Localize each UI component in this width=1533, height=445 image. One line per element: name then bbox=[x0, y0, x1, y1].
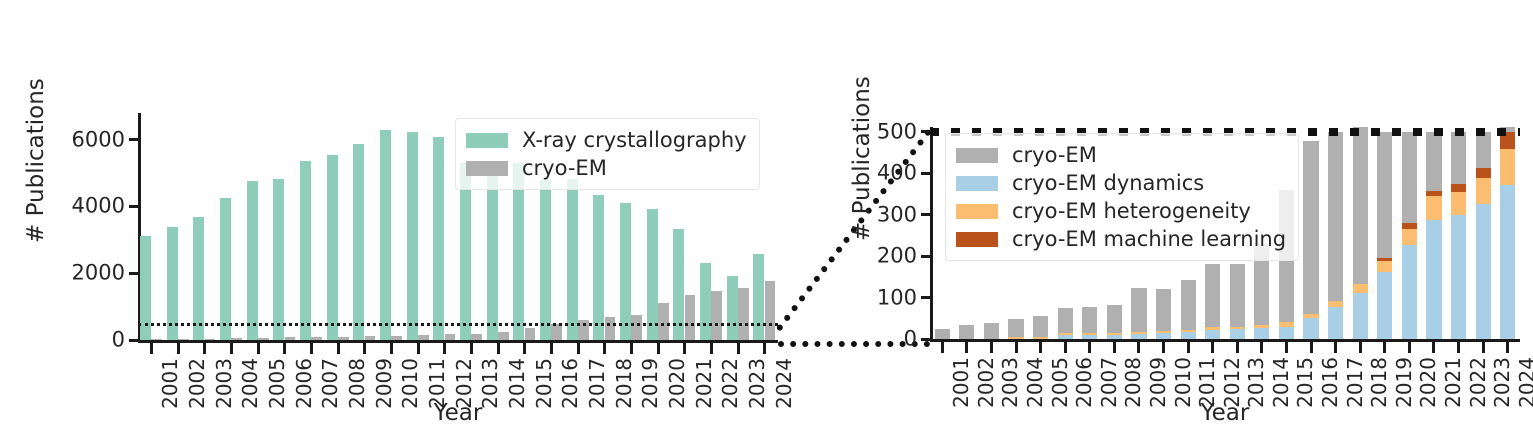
segment-cryo-em bbox=[1131, 288, 1146, 332]
segment-cryo-em-heterogeneity bbox=[1082, 333, 1097, 335]
x-tick bbox=[1457, 342, 1460, 353]
bar-x-ray-crystallography-2020 bbox=[647, 209, 658, 340]
legend-item-heterogeneity: cryo-EM heterogeneity bbox=[956, 197, 1286, 225]
bar-cryo-em-2010 bbox=[391, 336, 402, 340]
bar-cryo-em-2011 bbox=[418, 335, 429, 340]
x-tick bbox=[1310, 342, 1313, 353]
legend-swatch-xray bbox=[466, 133, 508, 148]
x-tick bbox=[1211, 342, 1214, 353]
bar-cryo-em-2009 bbox=[365, 336, 376, 340]
segment-cryo-em-dynamics bbox=[1058, 335, 1073, 339]
y-tick-label: 500 bbox=[877, 121, 917, 142]
legend-item-cryoem: cryo-EM bbox=[466, 154, 747, 182]
stacked-bar-2019 bbox=[1377, 127, 1392, 339]
segment-cryo-em bbox=[1328, 132, 1343, 301]
segment-cryo-em bbox=[1476, 132, 1491, 168]
y-tick-label: 300 bbox=[877, 204, 917, 225]
y-tick bbox=[129, 138, 138, 141]
x-tick bbox=[390, 343, 393, 354]
segment-cryo-em-heterogeneity bbox=[1008, 337, 1023, 339]
x-tick bbox=[990, 342, 993, 353]
bar-x-ray-crystallography-2009 bbox=[353, 144, 364, 340]
x-tick bbox=[1187, 342, 1190, 353]
segment-cryo-em bbox=[1402, 132, 1417, 223]
bar-cryo-em-2013 bbox=[471, 334, 482, 340]
segment-cryo-em-dynamics bbox=[1402, 245, 1417, 339]
segment-cryo-em-dynamics bbox=[1107, 335, 1122, 339]
segment-cryo-em-heterogeneity bbox=[1033, 337, 1048, 339]
segment-cryo-em-dynamics bbox=[1205, 330, 1220, 339]
x-tick bbox=[1015, 342, 1018, 353]
legend-swatch-dynamics bbox=[956, 176, 998, 191]
x-tick bbox=[363, 343, 366, 354]
x-tick bbox=[1408, 342, 1411, 353]
x-tick bbox=[763, 343, 766, 354]
segment-cryo-em bbox=[1303, 141, 1318, 314]
x-tick bbox=[965, 342, 968, 353]
stacked-bar-2018 bbox=[1353, 127, 1368, 339]
x-tick bbox=[1236, 342, 1239, 353]
x-tick bbox=[630, 343, 633, 354]
y-tick-label: 4000 bbox=[72, 196, 125, 217]
x-tick bbox=[150, 343, 153, 354]
y-tick bbox=[921, 338, 930, 341]
segment-cryo-em bbox=[1058, 308, 1073, 333]
bar-cryo-em-2021 bbox=[685, 295, 696, 340]
segment-cryo-em-dynamics bbox=[1230, 329, 1245, 339]
segment-cryo-em-dynamics bbox=[1426, 220, 1441, 339]
right-x-axis-label: Year bbox=[930, 400, 1520, 426]
legend-item-dynamics: cryo-EM dynamics bbox=[956, 169, 1286, 197]
segment-cryo-em-heterogeneity bbox=[1402, 229, 1417, 245]
left-x-spine bbox=[138, 340, 778, 343]
segment-cryo-em-dynamics bbox=[1254, 328, 1269, 339]
segment-cryo-em bbox=[1107, 305, 1122, 333]
bar-cryo-em-2005 bbox=[258, 338, 269, 340]
legend-item-cryoem: cryo-EM bbox=[956, 141, 1286, 169]
legend-label-machine-learning: cryo-EM machine learning bbox=[1012, 229, 1286, 250]
stacked-bar-2024 bbox=[1500, 127, 1515, 339]
left-x-axis-label: Year bbox=[138, 400, 778, 426]
segment-cryo-em-heterogeneity bbox=[1451, 192, 1466, 214]
stacked-bar-2022 bbox=[1451, 127, 1466, 339]
x-tick bbox=[203, 343, 206, 354]
bar-cryo-em-2024 bbox=[765, 281, 776, 340]
y-tick bbox=[921, 296, 930, 299]
segment-cryo-em bbox=[1156, 289, 1171, 330]
bar-cryo-em-2008 bbox=[338, 337, 349, 340]
stacked-bar-2016 bbox=[1303, 127, 1318, 339]
segment-cryo-em-heterogeneity bbox=[1131, 332, 1146, 334]
segment-cryo-em-dynamics bbox=[1353, 293, 1368, 339]
bar-cryo-em-2022 bbox=[711, 291, 722, 340]
segment-cryo-em-heterogeneity bbox=[1156, 331, 1171, 333]
x-tick bbox=[1137, 342, 1140, 353]
segment-cryo-em bbox=[959, 325, 974, 339]
segment-cryo-em-heterogeneity bbox=[1328, 301, 1343, 307]
x-tick bbox=[941, 342, 944, 353]
segment-cryo-em-dynamics bbox=[1131, 334, 1146, 339]
segment-cryo-em bbox=[1426, 132, 1441, 191]
segment-cryo-em-heterogeneity bbox=[1476, 178, 1491, 204]
segment-cryo-em-dynamics bbox=[1082, 335, 1097, 339]
bar-x-ray-crystallography-2018 bbox=[593, 195, 604, 340]
y-tick bbox=[129, 205, 138, 208]
segment-cryo-em-dynamics bbox=[1181, 332, 1196, 339]
segment-cryo-em-dynamics bbox=[1279, 327, 1294, 339]
bar-x-ray-crystallography-2003 bbox=[193, 217, 204, 340]
x-tick bbox=[710, 343, 713, 354]
segment-cryo-em bbox=[1353, 127, 1368, 284]
y-tick-label: 0 bbox=[112, 330, 125, 351]
segment-cryo-em bbox=[1205, 264, 1220, 327]
y-tick bbox=[921, 213, 930, 216]
x-tick bbox=[1383, 342, 1386, 353]
bar-cryo-em-2015 bbox=[525, 328, 536, 340]
bar-cryo-em-2001 bbox=[151, 339, 162, 340]
bar-cryo-em-2002 bbox=[178, 339, 189, 340]
x-tick bbox=[577, 343, 580, 354]
segment-cryo-em bbox=[1082, 307, 1097, 334]
right-legend: cryo-EM cryo-EM dynamics cryo-EM heterog… bbox=[945, 133, 1299, 261]
x-tick bbox=[1088, 342, 1091, 353]
segment-cryo-em-heterogeneity bbox=[1353, 284, 1368, 294]
segment-cryo-em bbox=[935, 329, 950, 339]
legend-swatch-machine-learning bbox=[956, 232, 998, 247]
legend-label-xray: X-ray crystallography bbox=[522, 130, 747, 151]
bar-x-ray-crystallography-2005 bbox=[247, 181, 258, 340]
segment-cryo-em-dynamics bbox=[1451, 215, 1466, 339]
x-tick bbox=[1113, 342, 1116, 353]
y-tick bbox=[921, 255, 930, 258]
bar-cryo-em-2014 bbox=[498, 332, 509, 340]
stacked-bar-2017 bbox=[1328, 127, 1343, 339]
legend-swatch-cryoem bbox=[956, 148, 998, 163]
segment-cryo-em bbox=[1451, 132, 1466, 184]
segment-cryo-em-dynamics bbox=[1303, 318, 1318, 339]
legend-swatch-cryoem bbox=[466, 161, 508, 176]
x-tick bbox=[230, 343, 233, 354]
segment-cryo-em-machine-learning bbox=[1402, 223, 1417, 229]
bar-cryo-em-2006 bbox=[285, 337, 296, 340]
segment-cryo-em-machine-learning bbox=[1451, 184, 1466, 192]
x-tick bbox=[1162, 342, 1165, 353]
bar-cryo-em-2020 bbox=[658, 303, 669, 340]
x-tick bbox=[1285, 342, 1288, 353]
y-tick-label: 100 bbox=[877, 287, 917, 308]
y-tick-label: 6000 bbox=[72, 129, 125, 150]
legend-label-dynamics: cryo-EM dynamics bbox=[1012, 173, 1204, 194]
x-tick bbox=[1064, 342, 1067, 353]
y-tick-label: 2000 bbox=[72, 263, 125, 284]
bar-cryo-em-2003 bbox=[205, 339, 216, 340]
stacked-bar-2020 bbox=[1402, 127, 1417, 339]
y-tick-label: 0 bbox=[904, 329, 917, 350]
x-tick bbox=[1260, 342, 1263, 353]
segment-cryo-em-heterogeneity bbox=[1254, 325, 1269, 328]
x-tick bbox=[1506, 342, 1509, 353]
segment-cryo-em-heterogeneity bbox=[1107, 333, 1122, 335]
bar-cryo-em-2004 bbox=[231, 338, 242, 340]
segment-cryo-em-heterogeneity bbox=[1205, 327, 1220, 329]
figure-root: # Publications 0200040006000 20012002200… bbox=[0, 0, 1533, 445]
segment-cryo-em-heterogeneity bbox=[1230, 327, 1245, 329]
x-tick bbox=[683, 343, 686, 354]
legend-label-heterogeneity: cryo-EM heterogeneity bbox=[1012, 201, 1251, 222]
segment-cryo-em-heterogeneity bbox=[1181, 330, 1196, 332]
y-tick bbox=[921, 172, 930, 175]
left-panel: # Publications 0200040006000 20012002200… bbox=[0, 0, 800, 445]
x-tick bbox=[737, 343, 740, 354]
segment-cryo-em-dynamics bbox=[1156, 333, 1171, 339]
segment-cryo-em-heterogeneity bbox=[1303, 314, 1318, 318]
bar-cryo-em-2012 bbox=[445, 334, 456, 340]
x-tick bbox=[310, 343, 313, 354]
bar-x-ray-crystallography-2007 bbox=[300, 161, 311, 340]
bar-x-ray-crystallography-2016 bbox=[540, 180, 551, 340]
right-panel: # Publications 0100200300400500 20012002… bbox=[820, 0, 1533, 445]
bar-cryo-em-2007 bbox=[311, 337, 322, 340]
y-tick-label: 400 bbox=[877, 163, 917, 184]
segment-cryo-em bbox=[1008, 319, 1023, 337]
left-y-axis-label: # Publications bbox=[23, 83, 49, 243]
bar-x-ray-crystallography-2024 bbox=[753, 254, 764, 340]
left-legend: X-ray crystallography cryo-EM bbox=[455, 118, 760, 190]
x-tick bbox=[657, 343, 660, 354]
reference-line-500 bbox=[138, 323, 778, 326]
segment-cryo-em-machine-learning bbox=[1426, 191, 1441, 196]
x-tick bbox=[177, 343, 180, 354]
bar-cryo-em-2018 bbox=[605, 317, 616, 340]
x-tick bbox=[523, 343, 526, 354]
x-tick bbox=[1482, 342, 1485, 353]
bar-cryo-em-2019 bbox=[631, 315, 642, 340]
segment-cryo-em-dynamics bbox=[1377, 272, 1392, 339]
x-tick bbox=[470, 343, 473, 354]
stacked-bar-2023 bbox=[1476, 127, 1491, 339]
bar-cryo-em-2023 bbox=[738, 288, 749, 340]
x-tick bbox=[550, 343, 553, 354]
bar-x-ray-crystallography-2004 bbox=[220, 198, 231, 340]
segment-cryo-em bbox=[1377, 132, 1392, 258]
segment-cryo-em-heterogeneity bbox=[1426, 196, 1441, 220]
x-tick bbox=[1039, 342, 1042, 353]
segment-cryo-em-dynamics bbox=[1476, 204, 1491, 339]
x-tick bbox=[283, 343, 286, 354]
x-tick bbox=[497, 343, 500, 354]
segment-cryo-em-dynamics bbox=[1500, 185, 1515, 339]
x-tick bbox=[257, 343, 260, 354]
segment-cryo-em bbox=[984, 323, 999, 339]
bar-x-ray-crystallography-2019 bbox=[620, 203, 631, 340]
legend-label-cryoem: cryo-EM bbox=[522, 158, 607, 179]
legend-item-xray: X-ray crystallography bbox=[466, 126, 747, 154]
stacked-bar-2021 bbox=[1426, 127, 1441, 339]
segment-cryo-em bbox=[1230, 264, 1245, 326]
legend-label-cryoem: cryo-EM bbox=[1012, 145, 1097, 166]
bar-x-ray-crystallography-2022 bbox=[700, 263, 711, 340]
bar-x-ray-crystallography-2017 bbox=[567, 179, 578, 340]
y-tick bbox=[129, 339, 138, 342]
segment-cryo-em-heterogeneity bbox=[1377, 261, 1392, 272]
segment-cryo-em bbox=[1033, 316, 1048, 337]
segment-cryo-em-machine-learning bbox=[1476, 168, 1491, 179]
right-y-spine bbox=[930, 127, 933, 339]
segment-cryo-em-heterogeneity bbox=[1058, 333, 1073, 335]
x-tick bbox=[1359, 342, 1362, 353]
bar-x-ray-crystallography-2006 bbox=[273, 179, 284, 340]
x-tick bbox=[1432, 342, 1435, 353]
y-tick bbox=[921, 130, 930, 133]
x-tick bbox=[443, 343, 446, 354]
segment-cryo-em bbox=[1181, 280, 1196, 330]
segment-cryo-em-heterogeneity bbox=[1500, 149, 1515, 185]
right-y-axis-label: # Publications bbox=[849, 81, 875, 241]
legend-swatch-heterogeneity bbox=[956, 204, 998, 219]
bar-x-ray-crystallography-2023 bbox=[727, 276, 738, 340]
x-tick bbox=[1334, 342, 1337, 353]
x-tick bbox=[337, 343, 340, 354]
bar-x-ray-crystallography-2011 bbox=[407, 132, 418, 340]
segment-cryo-em-dynamics bbox=[1328, 307, 1343, 339]
y-tick-label: 200 bbox=[877, 246, 917, 267]
legend-item-machine-learning: cryo-EM machine learning bbox=[956, 225, 1286, 253]
x-tick bbox=[603, 343, 606, 354]
bar-x-ray-crystallography-2008 bbox=[327, 155, 338, 340]
y-tick bbox=[129, 272, 138, 275]
segment-cryo-em-machine-learning bbox=[1377, 258, 1392, 261]
bar-x-ray-crystallography-2012 bbox=[433, 137, 444, 340]
segment-cryo-em-heterogeneity bbox=[1279, 322, 1294, 326]
x-tick bbox=[417, 343, 420, 354]
bar-cryo-em-2016 bbox=[551, 324, 562, 340]
bar-x-ray-crystallography-2010 bbox=[380, 130, 391, 340]
